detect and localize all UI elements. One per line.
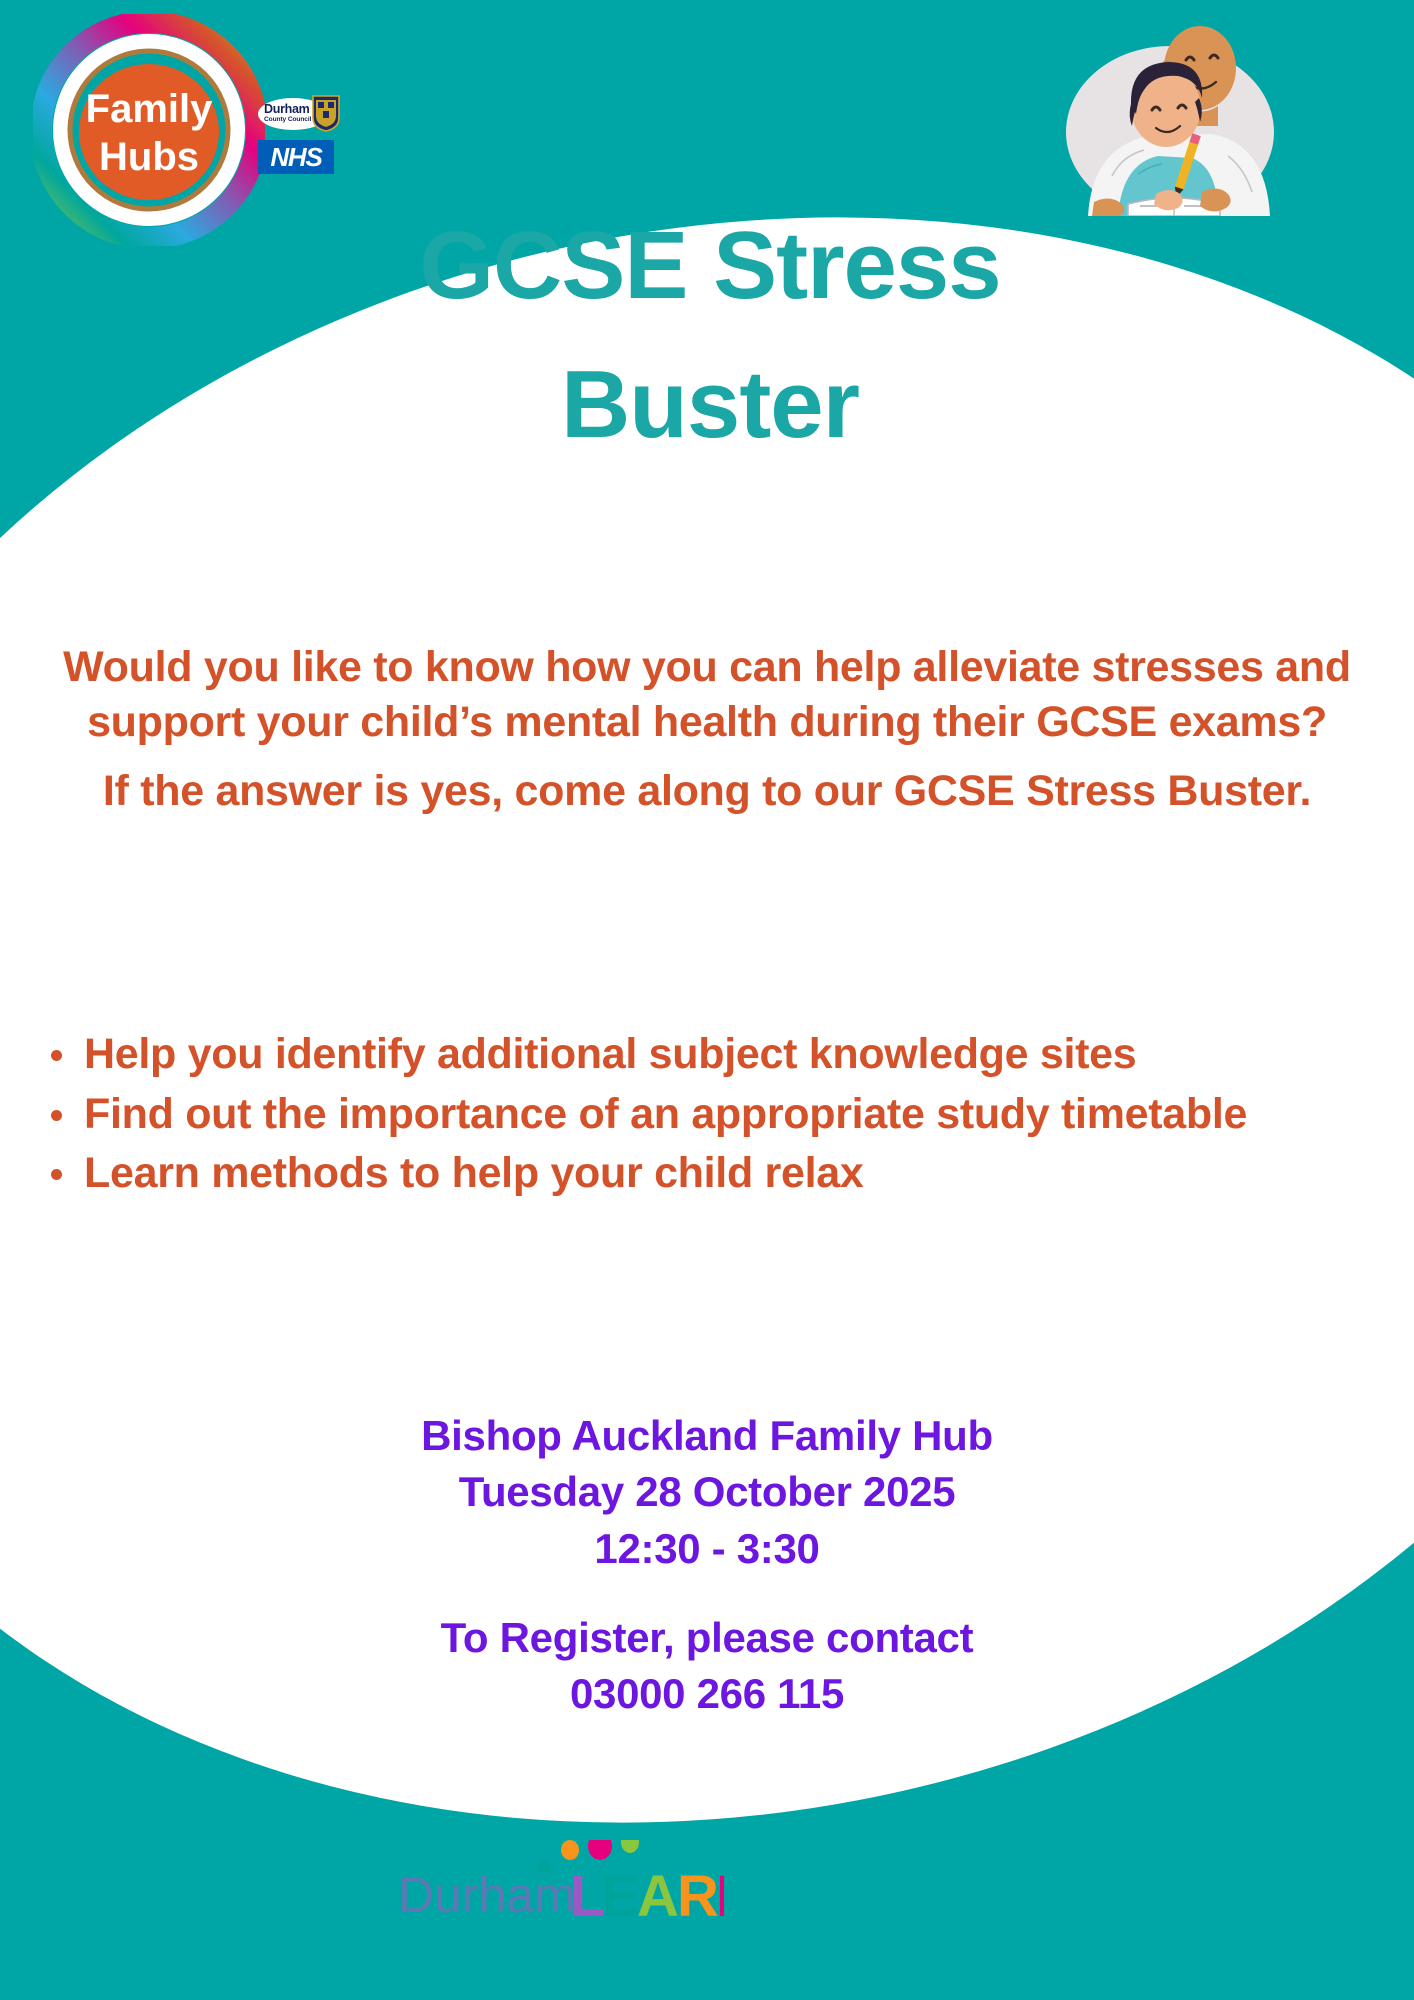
event-venue: Bishop Auckland Family Hub bbox=[180, 1408, 1234, 1464]
registration-details: To Register, please contact 03000 266 11… bbox=[180, 1610, 1234, 1723]
family-hubs-line1: Family bbox=[86, 87, 213, 131]
durham-learn-letter-N: N bbox=[716, 1864, 724, 1929]
durham-learn-letter-E: E bbox=[601, 1864, 640, 1929]
family-hubs-line2: Hubs bbox=[99, 135, 199, 179]
intro-text: Would you like to know how you can help … bbox=[30, 640, 1384, 819]
registration-phone[interactable]: 03000 266 115 bbox=[180, 1666, 1234, 1722]
list-item: Learn methods to help your child relax bbox=[84, 1145, 1414, 1203]
durham-learn-letter-R: R bbox=[677, 1864, 719, 1929]
poster: Family Hubs Durham County Council NHS bbox=[0, 0, 1414, 2000]
registration-prompt: To Register, please contact bbox=[180, 1610, 1234, 1666]
dl-dot-orange bbox=[561, 1840, 579, 1860]
intro-paragraph-2: If the answer is yes, come along to our … bbox=[30, 764, 1384, 819]
nhs-logo: NHS bbox=[258, 140, 334, 174]
durham-learn-word1: Durham bbox=[398, 1867, 576, 1923]
list-item: Help you identify additional subject kno… bbox=[84, 1026, 1414, 1084]
event-details: Bishop Auckland Family Hub Tuesday 28 Oc… bbox=[180, 1408, 1234, 1577]
title-line-2: Buster bbox=[300, 335, 1120, 474]
intro-paragraph-1: Would you like to know how you can help … bbox=[30, 640, 1384, 750]
parent-helping-child-with-homework-illustration bbox=[1052, 16, 1292, 216]
nhs-label: NHS bbox=[270, 144, 321, 170]
benefits-list: Help you identify additional subject kno… bbox=[22, 1026, 1414, 1205]
list-item: Find out the importance of an appropriat… bbox=[84, 1086, 1414, 1144]
durham-learn-logo: Durham L E A R N bbox=[394, 1840, 724, 1940]
family-hubs-logo: Family Hubs bbox=[33, 14, 265, 246]
dl-dot-green bbox=[621, 1840, 639, 1853]
title-line-1: GCSE Stress bbox=[300, 196, 1120, 335]
page-title: GCSE Stress Buster bbox=[300, 196, 1120, 474]
event-time: 12:30 - 3:30 bbox=[180, 1521, 1234, 1577]
durham-learn-letter-A: A bbox=[637, 1864, 679, 1929]
event-date: Tuesday 28 October 2025 bbox=[180, 1464, 1234, 1520]
durham-county-council-logo: Durham County Council bbox=[258, 92, 350, 136]
dl-dot-pink bbox=[588, 1840, 612, 1860]
durham-coat-of-arms-icon bbox=[311, 94, 341, 132]
